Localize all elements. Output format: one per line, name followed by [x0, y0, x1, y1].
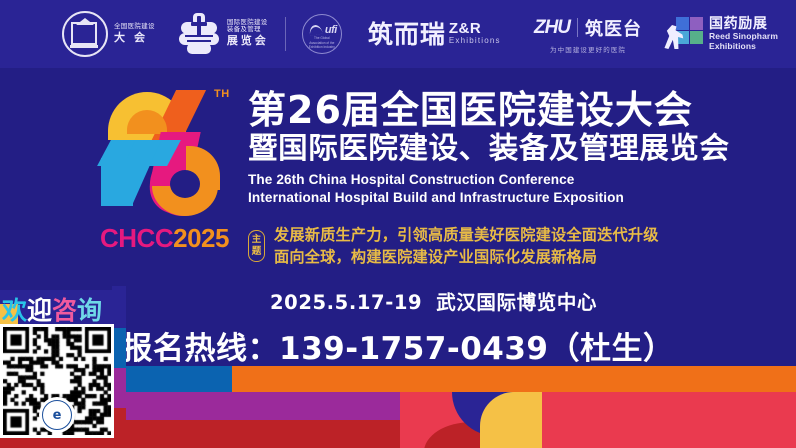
welcome-qr-block: 欢迎咨询 e: [0, 290, 118, 448]
theme-lines: 发展新质生产力，引领高质量美好医院建设全面迭代升级 面向全球，构建医院建设产业国…: [274, 224, 659, 268]
conference-logo-text: 全国医院建设 大 会: [114, 24, 155, 44]
ufi-sublabel: The Global Association of the Exhibition…: [306, 36, 338, 50]
welcome-label: 欢迎咨询: [2, 291, 102, 327]
chcc-wordmark-letters: CHCC: [100, 223, 173, 253]
theme-line1: 发展新质生产力，引领高质量美好医院建设全面迭代升级: [274, 224, 659, 246]
qr-code[interactable]: e: [0, 324, 114, 438]
expo-logo-line2: 装备及管理: [227, 27, 269, 34]
zhu-wordmark: ZHU: [534, 17, 570, 39]
welcome-char-4: 询: [77, 296, 102, 325]
zhu-wordmark-text: ZHU: [534, 17, 570, 38]
zhu-divider: [577, 18, 578, 37]
event-datetime-venue: 2025.5.17-19武汉国际博览中心: [270, 286, 597, 315]
theme-badge-char2: 题: [249, 246, 264, 258]
expo-logo: 国际医院建设 装备及管理 展览会: [155, 12, 269, 56]
zr-logo-cn: 筑而瑞: [368, 22, 446, 47]
event-venue: 武汉国际博览中心: [436, 291, 597, 314]
theme-block: 主 题 发展新质生产力，引领高质量美好医院建设全面迭代升级 面向全球，构建医院建…: [248, 224, 659, 268]
title-en-line1: The 26th China Hospital Construction Con…: [248, 171, 778, 189]
conference-logo-line2: 大 会: [114, 33, 155, 45]
welcome-char-3: 咨: [52, 296, 77, 325]
title-en-line2: International Hospital Build and Infrast…: [248, 189, 778, 207]
qr-center-logo: e: [39, 397, 75, 433]
top-logo-bar: 全国医院建设 大 会 国际医院建设 装备及管理 展览会: [0, 0, 796, 68]
conference-logo: 全国医院建设 大 会: [62, 11, 155, 57]
event-date: 2025.5.17-19: [270, 291, 422, 314]
classical-building-seal-icon: [62, 11, 108, 57]
number-26-icon: [98, 86, 250, 226]
reed-squares-icon: [664, 17, 704, 51]
chcc-anniversary-logo: TH CHCC2025: [96, 86, 252, 266]
zr-logo-en-main: Z&R: [449, 21, 501, 37]
page-title: 第26届全国医院建设大会: [248, 90, 778, 131]
theme-badge-char1: 主: [249, 234, 264, 246]
welcome-char-2: 迎: [27, 296, 52, 325]
welcome-char-1: 欢: [2, 296, 27, 325]
page-subtitle: 暨国际医院建设、装备及管理展览会: [248, 132, 778, 166]
expo-logo-line3: 展览会: [227, 36, 269, 48]
conference-logo-line1: 全国医院建设: [114, 24, 155, 31]
chcc-wordmark: CHCC2025: [100, 223, 229, 254]
theme-badge: 主 题: [248, 230, 265, 262]
expo-logo-text: 国际医院建设 装备及管理 展览会: [227, 20, 269, 47]
chcc-wordmark-year: 2025: [173, 223, 229, 253]
ordinal-suffix: TH: [214, 88, 230, 100]
band-orange: [232, 366, 796, 392]
logo-divider: [285, 17, 286, 51]
ufi-seal-icon: ufi The Global Association of the Exhibi…: [302, 14, 342, 54]
theme-line2: 面向全球，构建医院建设产业国际化发展新格局: [274, 246, 659, 268]
ufi-label: ufi: [325, 24, 337, 36]
zhu-tagline: 为中国建设更好的医院: [550, 44, 626, 54]
title-block: 第26届全国医院建设大会 暨国际医院建设、装备及管理展览会 The 26th C…: [248, 90, 778, 207]
qr-center-glyph: e: [42, 400, 72, 430]
reed-sinopharm-logo: 国药励展 Reed Sinopharm Exhibitions: [664, 17, 778, 52]
zhu-logo: ZHU 筑医台 为中国建设更好的医院: [534, 15, 642, 54]
snowflake-medical-icon: [177, 12, 221, 56]
zr-exhibitions-logo: 筑而瑞 Z&R Exhibitions: [368, 21, 501, 46]
poster-root: 全国医院建设 大 会 国际医院建设 装备及管理 展览会: [0, 0, 796, 448]
reed-logo-cn: 国药励展: [709, 17, 778, 33]
zr-logo-en-sub: Exhibitions: [449, 37, 501, 45]
zhu-logo-cn: 筑医台: [585, 15, 642, 41]
reed-logo-en2: Exhibitions: [709, 42, 778, 52]
